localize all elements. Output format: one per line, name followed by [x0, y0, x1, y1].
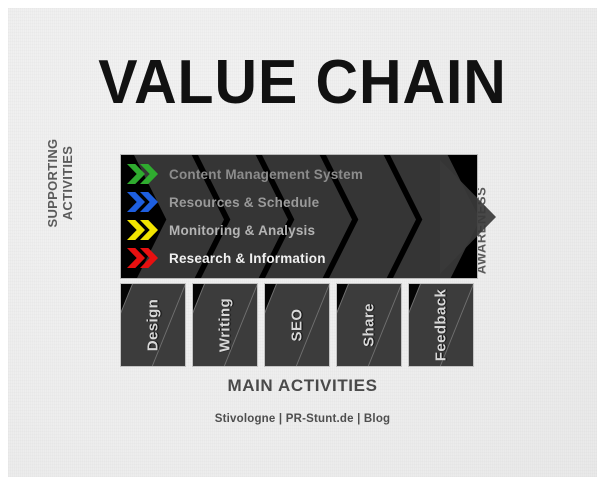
supporting-axis-line-2: ACTIVITIES: [60, 123, 75, 243]
supporting-activities-panel: Content Management SystemResources & Sch…: [120, 154, 478, 279]
supporting-activity-row[interactable]: Monitoring & Analysis: [127, 217, 315, 243]
main-activity-label: SEO: [289, 309, 306, 342]
main-activities-row: DesignWritingSEOShareFeedback: [120, 283, 478, 367]
double-chevron-right-icon: [127, 192, 161, 212]
slide-canvas: VALUE CHAIN SUPPORTING ACTIVITIES AWAREN…: [0, 0, 605, 485]
main-activity-label: Writing: [217, 298, 234, 352]
supporting-activity-label: Resources & Schedule: [169, 195, 319, 210]
supporting-activity-label: Monitoring & Analysis: [169, 223, 315, 238]
supporting-activities-axis-label: SUPPORTING ACTIVITIES: [45, 123, 75, 243]
supporting-activity-row[interactable]: Resources & Schedule: [127, 189, 319, 215]
page-title: VALUE CHAIN: [23, 52, 583, 114]
main-activity-box[interactable]: Writing: [192, 283, 258, 367]
main-activity-label: Design: [145, 299, 162, 351]
supporting-activity-label: Research & Information: [169, 251, 326, 266]
main-activity-box[interactable]: Feedback: [408, 283, 474, 367]
supporting-activity-row[interactable]: Research & Information: [127, 245, 326, 271]
supporting-activity-row[interactable]: Content Management System: [127, 161, 363, 187]
double-chevron-right-icon: [127, 248, 161, 268]
main-activity-box[interactable]: Design: [120, 283, 186, 367]
double-chevron-right-icon: [127, 164, 161, 184]
main-activities-caption: MAIN ACTIVITIES: [8, 376, 597, 396]
main-activity-label: Share: [361, 303, 378, 347]
supporting-axis-line-1: SUPPORTING: [45, 123, 60, 243]
footer-credits: Stivologne | PR-Stunt.de | Blog: [8, 413, 597, 425]
main-activity-box[interactable]: SEO: [264, 283, 330, 367]
main-activity-label: Feedback: [433, 289, 450, 361]
slide-background: VALUE CHAIN SUPPORTING ACTIVITIES AWAREN…: [8, 8, 597, 477]
double-chevron-right-icon: [127, 220, 161, 240]
supporting-activities-list: Content Management SystemResources & Sch…: [121, 155, 477, 278]
supporting-activity-label: Content Management System: [169, 167, 363, 182]
main-activity-box[interactable]: Share: [336, 283, 402, 367]
